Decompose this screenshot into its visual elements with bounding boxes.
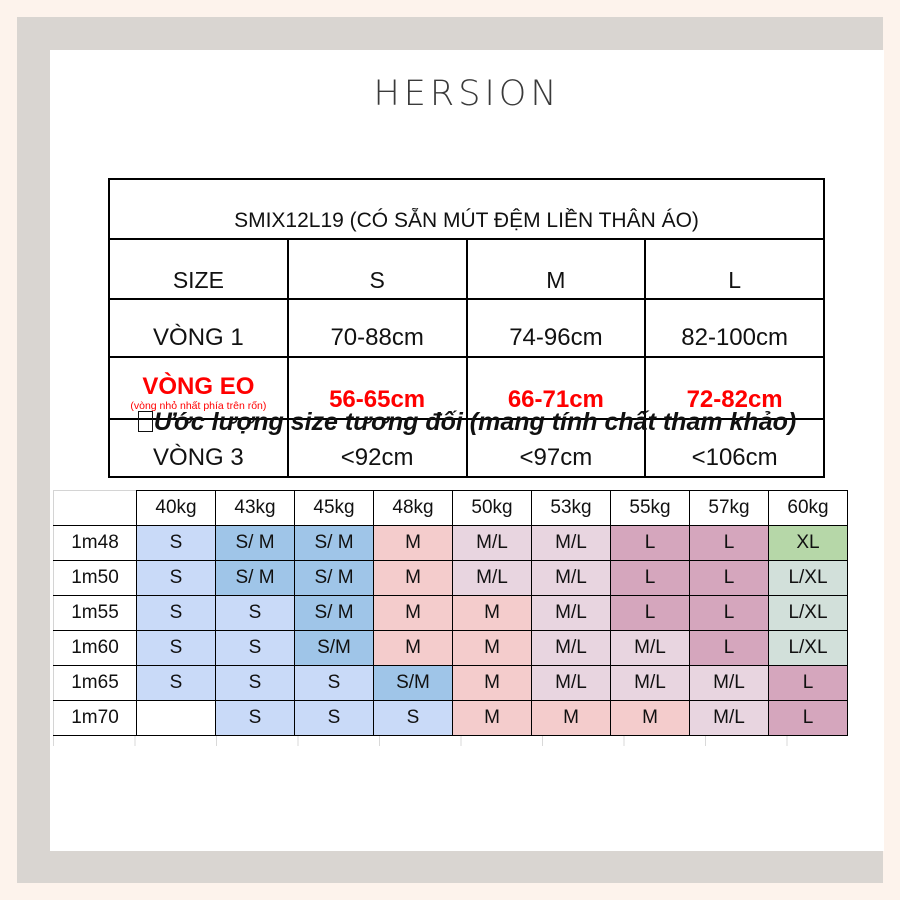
grid-cell-1m65-60kg: L [769, 666, 848, 701]
grid-corner-cell [54, 491, 137, 526]
grid-cell-1m50-60kg: L/XL [769, 561, 848, 596]
grid-col-header-57kg: 57kg [690, 491, 769, 526]
grid-col-header-53kg: 53kg [532, 491, 611, 526]
grid-cell-1m48-48kg: M [374, 526, 453, 561]
missing-glyph-icon [138, 411, 153, 432]
grid-cell-1m48-40kg: S [137, 526, 216, 561]
grid-cell-1m50-50kg: M/L [453, 561, 532, 596]
grid-col-header-40kg: 40kg [137, 491, 216, 526]
grid-cell-1m48-43kg: S/ M [216, 526, 295, 561]
grid-cell-1m48-57kg: L [690, 526, 769, 561]
grid-cell-1m55-57kg: L [690, 596, 769, 631]
spec-row-bust-m: 74-96cm [467, 299, 646, 357]
grid-cell-1m65-53kg: M/L [532, 666, 611, 701]
grid-cell-1m60-60kg: L/XL [769, 631, 848, 666]
grid-cell-1m60-40kg: S [137, 631, 216, 666]
grid-cell-1m50-55kg: L [611, 561, 690, 596]
grid-row: 1m65SSSS/MMM/LM/LM/LL [54, 666, 848, 701]
grid-cell-1m60-50kg: M [453, 631, 532, 666]
grid-row-header-1m60: 1m60 [54, 631, 137, 666]
grid-cell-1m50-45kg: S/ M [295, 561, 374, 596]
grid-cell-1m70-55kg: M [611, 701, 690, 736]
grid-cell-1m50-53kg: M/L [532, 561, 611, 596]
brand-logo: HERSION [50, 74, 884, 114]
grid-cell-1m65-48kg: S/M [374, 666, 453, 701]
grid-cell-1m55-55kg: L [611, 596, 690, 631]
spec-header-l: L [645, 239, 824, 299]
estimate-note-text: Ước lượng size tương đối (mang tính chất… [154, 408, 796, 436]
grid-cell-1m65-50kg: M [453, 666, 532, 701]
grid-col-header-50kg: 50kg [453, 491, 532, 526]
grid-cell-1m55-45kg: S/ M [295, 596, 374, 631]
grid-cell-1m65-57kg: M/L [690, 666, 769, 701]
grid-cell-1m70-48kg: S [374, 701, 453, 736]
grid-cell-1m60-57kg: L [690, 631, 769, 666]
grid-row-header-1m48: 1m48 [54, 526, 137, 561]
grid-col-header-48kg: 48kg [374, 491, 453, 526]
grid-cell-1m55-53kg: M/L [532, 596, 611, 631]
grid-row: 1m50SS/ MS/ MMM/LM/LLLL/XL [54, 561, 848, 596]
grid-col-header-55kg: 55kg [611, 491, 690, 526]
grid-cell-1m60-43kg: S [216, 631, 295, 666]
grid-cell-1m55-50kg: M [453, 596, 532, 631]
grid-cell-1m50-40kg: S [137, 561, 216, 596]
grid-row-header-1m50: 1m50 [54, 561, 137, 596]
grid-row-header-1m70: 1m70 [54, 701, 137, 736]
grid-cell-1m65-40kg: S [137, 666, 216, 701]
spec-title-row: SMIX12L19 (CÓ SẴN MÚT ĐỆM LIỀN THÂN ÁO) [109, 179, 824, 239]
grid-row: 1m60SSS/MMMM/LM/LLL/XL [54, 631, 848, 666]
spec-header-row: SIZE S M L [109, 239, 824, 299]
grid-cell-1m55-60kg: L/XL [769, 596, 848, 631]
grid-row-header-1m65: 1m65 [54, 666, 137, 701]
grid-cell-1m60-48kg: M [374, 631, 453, 666]
grid-cell-1m55-43kg: S [216, 596, 295, 631]
content-canvas: HERSION SMIX12L19 (CÓ SẴN MÚT ĐỆM LIỀN T… [50, 50, 884, 851]
grid-cell-1m48-60kg: XL [769, 526, 848, 561]
grid-cell-1m70-45kg: S [295, 701, 374, 736]
spec-title-cell: SMIX12L19 (CÓ SẴN MÚT ĐỆM LIỀN THÂN ÁO) [109, 179, 824, 239]
grid-cell-1m48-50kg: M/L [453, 526, 532, 561]
grid-cell-1m70-40kg [137, 701, 216, 736]
grid-cell-1m70-43kg: S [216, 701, 295, 736]
grid-cell-1m48-53kg: M/L [532, 526, 611, 561]
grid-cell-1m65-43kg: S [216, 666, 295, 701]
grid-cell-1m60-45kg: S/M [295, 631, 374, 666]
spec-row-bust-s: 70-88cm [288, 299, 467, 357]
estimate-note: Ước lượng size tương đối (mang tính chất… [50, 408, 884, 437]
spec-header-s: S [288, 239, 467, 299]
grid-col-header-43kg: 43kg [216, 491, 295, 526]
grid-col-header-45kg: 45kg [295, 491, 374, 526]
grid-cell-1m65-55kg: M/L [611, 666, 690, 701]
photo-frame-border: HERSION SMIX12L19 (CÓ SẴN MÚT ĐỆM LIỀN T… [17, 17, 883, 883]
size-estimate-grid-wrapper: 40kg43kg45kg48kg50kg53kg55kg57kg60kg1m48… [50, 490, 884, 755]
spec-row-bust-label: VÒNG 1 [109, 299, 288, 357]
grid-row: 1m48SS/ MS/ MMM/LM/LLLXL [54, 526, 848, 561]
grid-cell-1m65-45kg: S [295, 666, 374, 701]
grid-cell-1m70-57kg: M/L [690, 701, 769, 736]
grid-col-header-60kg: 60kg [769, 491, 848, 526]
spec-row-bust-l: 82-100cm [645, 299, 824, 357]
grid-cell-1m70-53kg: M [532, 701, 611, 736]
grid-cell-1m48-45kg: S/ M [295, 526, 374, 561]
grid-cell-1m70-50kg: M [453, 701, 532, 736]
grid-cell-1m55-40kg: S [137, 596, 216, 631]
grid-cell-1m50-57kg: L [690, 561, 769, 596]
spec-header-m: M [467, 239, 646, 299]
grid-cell-1m50-48kg: M [374, 561, 453, 596]
grid-cell-1m55-48kg: M [374, 596, 453, 631]
spec-row-bust: VÒNG 1 70-88cm 74-96cm 82-100cm [109, 299, 824, 357]
grid-cell-1m60-55kg: M/L [611, 631, 690, 666]
grid-row: 1m55SSS/ MMMM/LLLL/XL [54, 596, 848, 631]
grid-cell-1m70-60kg: L [769, 701, 848, 736]
spec-header-size: SIZE [109, 239, 288, 299]
grid-row-header-1m55: 1m55 [54, 596, 137, 631]
grid-cell-1m48-55kg: L [611, 526, 690, 561]
grid-row: 1m70SSSMMMM/LL [54, 701, 848, 736]
grid-cell-1m50-43kg: S/ M [216, 561, 295, 596]
grid-cell-1m60-53kg: M/L [532, 631, 611, 666]
grid-header-row: 40kg43kg45kg48kg50kg53kg55kg57kg60kg [54, 491, 848, 526]
spec-row-waist-label-main: VÒNG EO [142, 373, 254, 400]
size-estimate-grid: 40kg43kg45kg48kg50kg53kg55kg57kg60kg1m48… [53, 490, 848, 736]
